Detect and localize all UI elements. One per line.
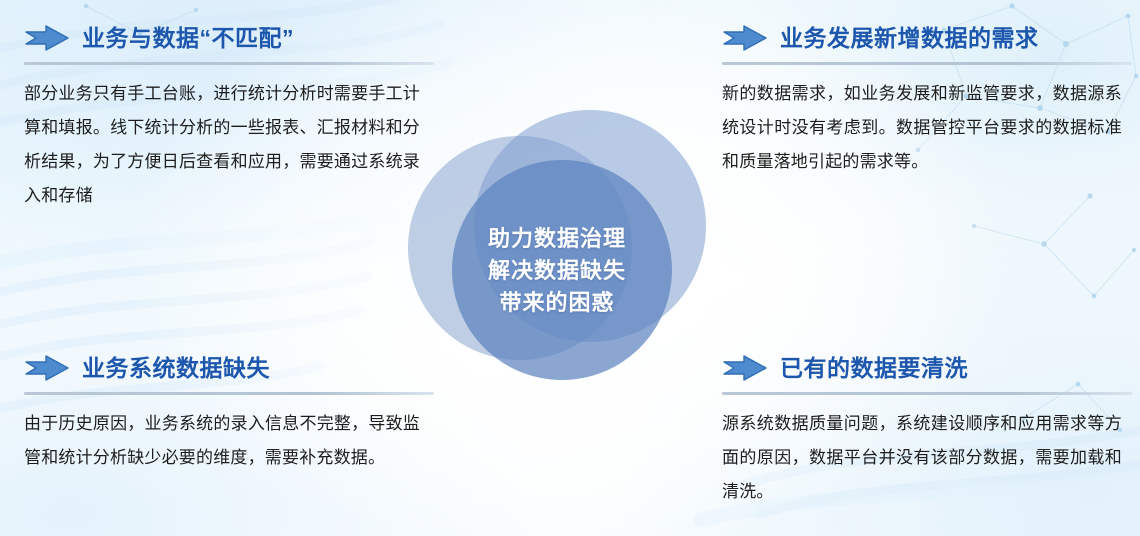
center-line-1: 助力数据治理	[488, 224, 626, 254]
arrow-right-icon	[24, 354, 70, 382]
panel-header: 已有的数据要清洗	[722, 348, 1132, 388]
arrow-right-icon	[722, 24, 768, 52]
panel-header: 业务发展新增数据的需求	[722, 18, 1132, 58]
panel-title: 业务与数据“不匹配”	[82, 24, 294, 52]
panel-divider	[24, 62, 434, 65]
slide-canvas: 助力数据治理 解决数据缺失 带来的困惑 业务与数据“不匹配” 部分业务只有手工台…	[0, 0, 1140, 536]
panel-existing-data-cleaning: 已有的数据要清洗 源系统数据质量问题，系统建设顺序和应用需求等方面的原因，数据平…	[722, 348, 1132, 509]
panel-divider	[722, 392, 1132, 395]
panel-business-data-mismatch: 业务与数据“不匹配” 部分业务只有手工台账，进行统计分析时需要手工计算和填报。线…	[24, 18, 434, 213]
panel-title: 业务发展新增数据的需求	[780, 24, 1039, 52]
arrow-right-icon	[24, 24, 70, 52]
panel-new-data-demand: 业务发展新增数据的需求 新的数据需求，如业务发展和新监管要求，数据源系统设计时没…	[722, 18, 1132, 179]
arrow-right-icon	[722, 354, 768, 382]
panel-body-text: 由于历史原因，业务系统的录入信息不完整，导致监管和统计分析缺少必要的维度，需要补…	[24, 407, 420, 475]
center-circles-graphic: 助力数据治理 解决数据缺失 带来的困惑	[402, 98, 712, 408]
panel-body-text: 源系统数据质量问题，系统建设顺序和应用需求等方面的原因，数据平台并没有该部分数据…	[722, 407, 1122, 509]
panel-divider	[722, 62, 1132, 65]
panel-body-text: 部分业务只有手工台账，进行统计分析时需要手工计算和填报。线下统计分析的一些报表、…	[24, 77, 420, 213]
panel-system-data-missing: 业务系统数据缺失 由于历史原因，业务系统的录入信息不完整，导致监管和统计分析缺少…	[24, 348, 434, 475]
panel-header: 业务与数据“不匹配”	[24, 18, 434, 58]
panel-title: 已有的数据要清洗	[780, 354, 968, 382]
center-line-2: 解决数据缺失	[488, 256, 626, 286]
panel-divider	[24, 392, 434, 395]
center-text-block: 助力数据治理 解决数据缺失 带来的困惑	[402, 98, 712, 408]
center-line-3: 带来的困惑	[499, 288, 614, 318]
panel-body-text: 新的数据需求，如业务发展和新监管要求，数据源系统设计时没有考虑到。数据管控平台要…	[722, 77, 1122, 179]
panel-header: 业务系统数据缺失	[24, 348, 434, 388]
panel-title: 业务系统数据缺失	[82, 354, 270, 382]
